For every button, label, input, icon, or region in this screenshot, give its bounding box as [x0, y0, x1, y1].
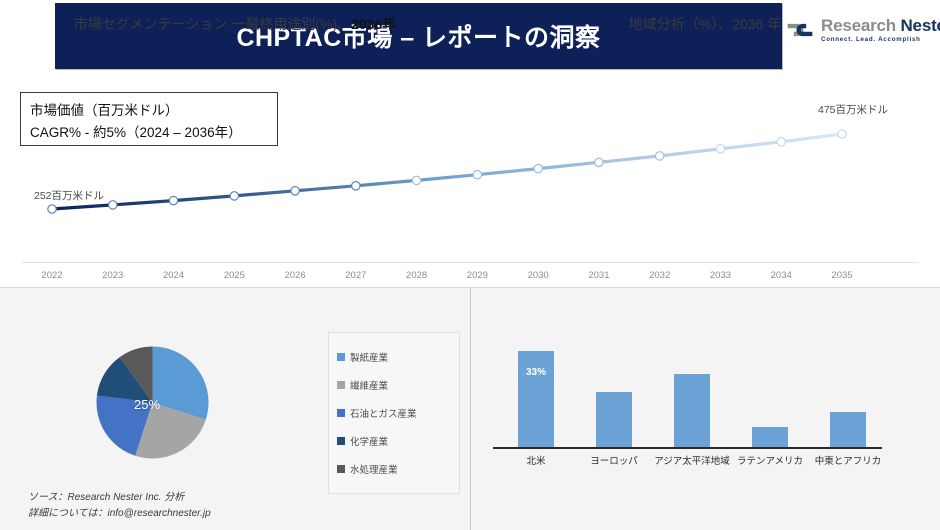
region-bar-chart: 33%	[497, 342, 887, 447]
line-data-point	[716, 145, 724, 153]
line-data-point	[48, 205, 56, 213]
line-data-point	[838, 130, 846, 138]
x-axis-year-label: 2030	[528, 270, 549, 281]
line-chart-plot	[0, 72, 940, 287]
legend-swatch-icon	[337, 381, 345, 389]
bar[interactable]	[674, 374, 710, 447]
line-data-point	[109, 201, 117, 209]
pie-slice-data-label: 25%	[134, 397, 160, 412]
x-axis-year-label: 2026	[284, 270, 305, 281]
page-header: CHPTAC市場 – レポートの洞察 Research Nester Conne…	[0, 0, 940, 72]
bar-category-label: アジア太平洋地域	[654, 453, 730, 467]
line-data-point	[473, 171, 481, 179]
source-line-2: 詳細については：info@researchnester.jp	[28, 506, 211, 522]
legend-item-label: 繊維産業	[350, 378, 388, 392]
legend-item-label: 化学産業	[350, 434, 388, 448]
source-line-1: ソース：Research Nester Inc. 分析	[28, 490, 211, 506]
x-axis-year-label: 2027	[345, 270, 366, 281]
line-chart-x-axis: 2022202320242025202620272028202920302031…	[0, 262, 940, 286]
line-data-point	[291, 187, 299, 195]
line-data-point	[777, 138, 785, 146]
pie-legend: 製紙産業繊維産業石油とガス産業化学産業水処理産業	[328, 332, 460, 494]
legend-item[interactable]: 石油とガス産業	[337, 399, 459, 427]
legend-item[interactable]: 繊維産業	[337, 371, 459, 399]
source-note: ソース：Research Nester Inc. 分析 詳細については：info…	[28, 490, 211, 521]
x-axis-year-label: 2022	[41, 270, 62, 281]
x-axis-year-label: 2033	[710, 270, 731, 281]
x-axis-year-label: 2024	[163, 270, 184, 281]
bar-category-label: ラテンアメリカ	[737, 453, 803, 467]
bar[interactable]	[596, 392, 632, 447]
segmentation-title-year: 2036年	[351, 16, 396, 32]
bar-category-label: 北米	[526, 453, 545, 467]
region-panel-title: 地域分析（%）、2036 年	[470, 14, 940, 34]
x-axis-year-label: 2025	[224, 270, 245, 281]
legend-item[interactable]: 製紙産業	[337, 343, 459, 371]
legend-item-label: 石油とガス産業	[350, 406, 417, 420]
bar-chart-baseline	[493, 447, 882, 449]
bar[interactable]: 33%	[518, 351, 554, 447]
line-data-point	[230, 192, 238, 200]
legend-item-label: 水処理産業	[350, 462, 398, 476]
line-data-point	[656, 152, 664, 160]
x-axis-year-label: 2023	[102, 270, 123, 281]
legend-swatch-icon	[337, 409, 345, 417]
legend-item[interactable]: 水処理産業	[337, 455, 459, 483]
panel-divider	[470, 288, 471, 530]
x-axis-year-label: 2034	[771, 270, 792, 281]
segmentation-title-text: 市場セグメンテーション ー最終用途別(%)、	[74, 16, 351, 32]
bar-category-label: 中東とアフリカ	[815, 453, 882, 467]
page-title: CHPTAC市場 – レポートの洞察	[55, 3, 782, 69]
axis-rule	[22, 262, 918, 263]
logo-tagline: Connect. Lead. Accomplish	[821, 37, 940, 43]
legend-swatch-icon	[337, 353, 345, 361]
x-axis-year-label: 2032	[649, 270, 670, 281]
legend-item-label: 製紙産業	[350, 350, 388, 364]
legend-item[interactable]: 化学産業	[337, 427, 459, 455]
bar-data-label: 33%	[518, 367, 554, 378]
legend-swatch-icon	[337, 465, 345, 473]
bar[interactable]	[830, 412, 866, 447]
market-value-line-chart: 市場価値（百万米ドル） CAGR% - 約5%（2024 – 2036年） 25…	[0, 72, 940, 287]
segmentation-panel-title: 市場セグメンテーション ー最終用途別(%)、2036年	[0, 14, 470, 34]
x-axis-year-label: 2035	[831, 270, 852, 281]
legend-swatch-icon	[337, 437, 345, 445]
bar-category-label: ヨーロッパ	[590, 453, 638, 467]
x-axis-year-label: 2028	[406, 270, 427, 281]
line-data-point	[595, 158, 603, 166]
line-data-point	[534, 164, 542, 172]
line-data-point	[169, 196, 177, 204]
x-axis-year-label: 2031	[588, 270, 609, 281]
x-axis-year-label: 2029	[467, 270, 488, 281]
line-data-point	[352, 182, 360, 190]
line-data-point	[412, 176, 420, 184]
bar[interactable]	[752, 427, 788, 447]
title-banner: CHPTAC市場 – レポートの洞察	[55, 3, 782, 69]
